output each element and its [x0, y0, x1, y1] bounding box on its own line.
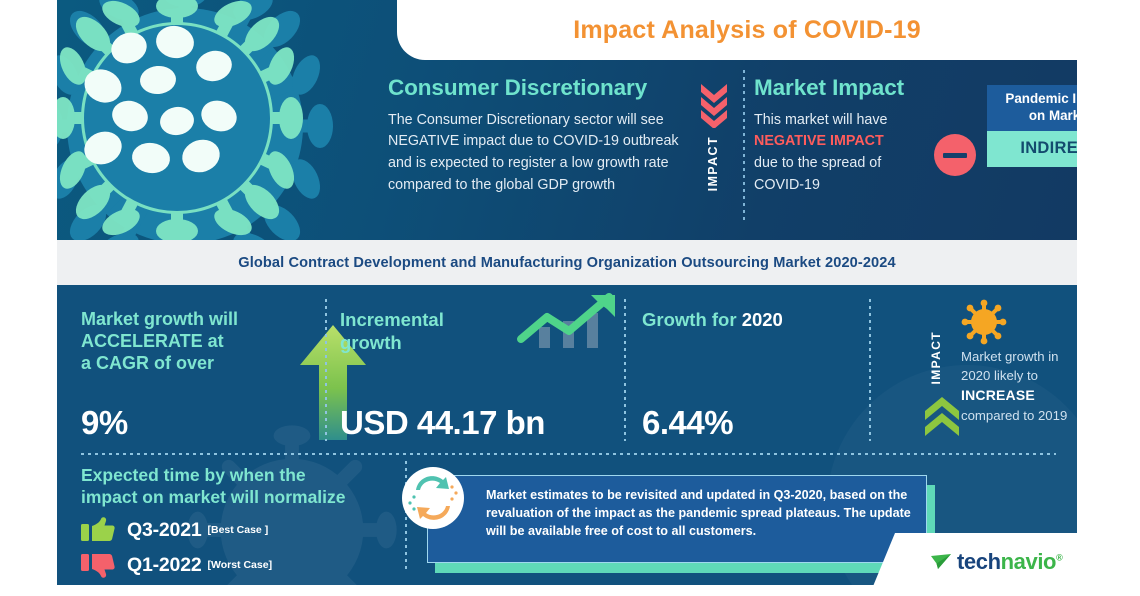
best-case-quarter: Q3-2021	[127, 519, 202, 542]
cagr-label-line1: Market growth will	[81, 309, 238, 329]
thumbs-up-icon	[81, 517, 115, 543]
growth-2020-value: 6.44%	[642, 404, 733, 442]
growth2020-label-teal: Growth for	[642, 309, 737, 330]
note-box: Market estimates to be revisited and upd…	[427, 475, 927, 563]
impact-line2: 2020 likely to	[961, 368, 1038, 383]
pandemic-impact-box: Pandemic Impact on Market INDIRECT	[987, 85, 1077, 167]
refresh-cycle-icon	[402, 467, 464, 529]
impact-highlight: INCREASE	[961, 387, 1035, 403]
metrics-divider-2	[624, 299, 626, 441]
logo-text-navio: navio	[1001, 549, 1056, 574]
impact-line3: compared to 2019	[961, 408, 1067, 423]
logo-trademark: ®	[1056, 553, 1062, 563]
chevron-up-double-icon	[925, 397, 959, 437]
incremental-label-line1: Incremental	[340, 309, 444, 330]
impact-panel-text: Market growth in 2020 likely to INCREASE…	[961, 347, 1075, 425]
market-impact-line1: This market will have	[754, 112, 887, 128]
worst-case-quarter: Q1-2022	[127, 554, 202, 577]
market-report-title: Global Contract Development and Manufact…	[238, 255, 895, 271]
cagr-label-line2: ACCELERATE at	[81, 331, 224, 351]
minus-circle-icon	[934, 134, 976, 176]
consumer-discretionary-heading: Consumer Discretionary	[388, 76, 693, 101]
normalize-block: Expected time by when the impact on mark…	[81, 465, 391, 578]
paper-plane-icon	[930, 552, 952, 572]
logo-text: technavio®	[957, 549, 1062, 575]
metrics-divider-1	[325, 299, 327, 441]
consumer-discretionary-block: Consumer Discretionary The Consumer Disc…	[388, 76, 693, 197]
normalize-heading-line2: impact on market will normalize	[81, 487, 346, 507]
pandemic-impact-value: INDIRECT	[987, 131, 1077, 167]
note-text: Market estimates to be revisited and upd…	[486, 487, 912, 541]
metrics-divider-3	[869, 299, 871, 441]
growth2020-label-year: 2020	[742, 309, 783, 330]
pandemic-impact-label: Pandemic Impact on Market	[987, 85, 1077, 131]
header-divider	[743, 70, 745, 220]
coronavirus-orange-icon	[961, 299, 1007, 345]
thumbs-down-icon	[81, 552, 115, 578]
worst-case-row: Q1-2022 [Worst Case]	[81, 552, 391, 578]
worst-case-tag: [Worst Case]	[208, 559, 273, 571]
metric-growth-2020: Growth for 2020 6.44%	[642, 309, 882, 332]
incremental-label-line2: growth	[340, 332, 402, 353]
header-band: Consumer Discretionary The Consumer Disc…	[57, 0, 1077, 240]
impact-strip-header: IMPACT	[693, 82, 735, 227]
cagr-label-line3: a CAGR of over	[81, 353, 214, 373]
impact-label-header: IMPACT	[706, 136, 720, 191]
incremental-growth-value: USD 44.17 bn	[340, 404, 545, 442]
metric-cagr: Market growth will ACCELERATE at a CAGR …	[81, 309, 281, 375]
consumer-discretionary-body: The Consumer Discretionary sector will s…	[388, 110, 693, 197]
body-horizontal-divider	[81, 453, 1056, 455]
market-impact-line3: COVID-19	[754, 177, 820, 193]
best-case-tag: [Best Case ]	[208, 524, 269, 536]
normalize-heading-line1: Expected time by when the	[81, 465, 306, 485]
metrics-row: Market growth will ACCELERATE at a CAGR …	[57, 285, 1077, 453]
infographic-root: Consumer Discretionary The Consumer Disc…	[0, 0, 1140, 596]
market-impact-line2: due to the spread of	[754, 155, 881, 171]
pandemic-label-line1: Pandemic Impact	[1005, 91, 1077, 106]
cagr-value: 9%	[81, 404, 128, 442]
market-impact-heading: Market Impact	[754, 76, 989, 101]
impact-panel: IMPACT	[925, 299, 1075, 449]
impact-label-body: IMPACT	[929, 331, 943, 385]
coronavirus-illustration	[57, 0, 357, 240]
growth-chart-icon	[517, 293, 622, 348]
market-impact-highlight: NEGATIVE IMPACT	[754, 133, 884, 149]
technavio-logo[interactable]: technavio®	[930, 549, 1062, 575]
normalize-heading: Expected time by when the impact on mark…	[81, 465, 391, 508]
subtitle-bar: Global Contract Development and Manufact…	[57, 240, 1077, 285]
logo-text-tech: tech	[957, 549, 1001, 574]
best-case-row: Q3-2021 [Best Case ]	[81, 517, 391, 543]
page-title: Impact Analysis of COVID-19	[397, 0, 1077, 60]
pandemic-label-line2: on Market	[1029, 108, 1077, 123]
chevron-down-triple-icon	[693, 82, 735, 128]
impact-line1: Market growth in	[961, 349, 1058, 364]
